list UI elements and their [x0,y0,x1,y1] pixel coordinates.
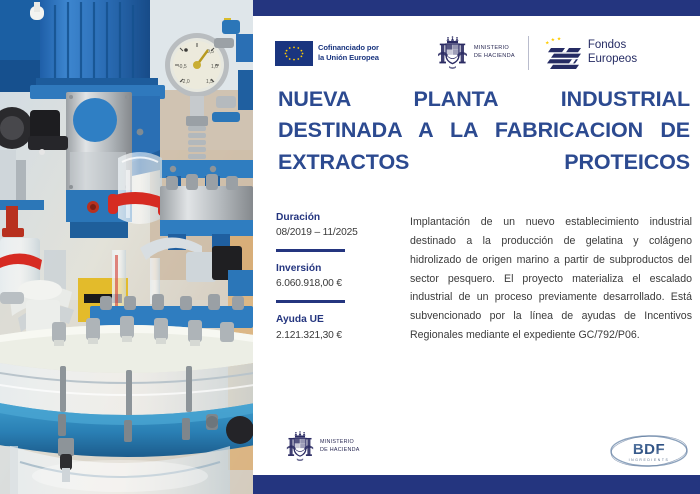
content-panel: Cofinanciado por la Unión Europea [253,0,700,494]
fondos-europeos-mark-icon [542,37,582,70]
footer-ministerio-line2: DE HACIENDA [320,447,360,453]
bottom-navy-bar [253,475,700,494]
spanish-coat-of-arms-icon [436,36,469,70]
svg-text:1,5: 1,5 [206,79,213,85]
fact-value-inversion: 6.060.918,00 € [276,276,404,292]
fact-inversion: Inversión 6.060.918,00 € [276,261,404,292]
ministerio-line1: MINISTERIO [474,45,509,51]
industrial-plant-photo: 0,5 1,0 1,5 -2,0 -0,5 [0,0,253,494]
ministerio-logo-text: MINISTERIO DE HACIENDA [474,45,515,61]
fact-ayuda-ue: Ayuda UE 2.121.321,30 € [276,312,404,343]
fact-label-duracion: Duración [276,210,404,225]
bdf-company-logo: BDF INGREDIENTS [608,430,690,472]
fact-separator-1 [276,249,345,252]
ministerio-hacienda-logo: MINISTERIO DE HACIENDA [436,36,515,70]
fondos-line2: Europeos [588,53,637,65]
eu-logo-line2: la Unión Europea [318,53,379,62]
poster-title: NUEVA PLANTA INDUSTRIAL DESTINADA A LA F… [278,84,690,178]
eu-cofunding-logo: Cofinanciado por la Unión Europea [275,41,379,66]
logo-divider [528,36,529,70]
fact-label-ayuda-ue: Ayuda UE [276,312,404,327]
eu-logo-line1: Cofinanciado por [318,43,379,52]
bdf-wordmark: BDF [633,441,665,458]
fact-separator-2 [276,300,345,303]
ministerio-line2: DE HACIENDA [474,53,515,59]
eu-flag-icon [275,41,313,66]
fondos-europeos-logo: Fondos Europeos [542,37,637,70]
eu-logo-text: Cofinanciado por la Unión Europea [318,43,379,62]
fondos-line1: Fondos [588,39,626,51]
project-information-poster: 0,5 1,0 1,5 -2,0 -0,5 [0,0,700,494]
fact-value-duracion: 08/2019 – 11/2025 [276,225,404,241]
top-navy-bar [253,0,700,16]
svg-text:-2,0: -2,0 [181,79,190,85]
spanish-coat-of-arms-icon-footer [285,431,315,462]
bdf-tagline: INGREDIENTS [629,458,670,462]
svg-text:-0,5: -0,5 [178,64,187,70]
project-facts-list: Duración 08/2019 – 11/2025 Inversión 6.0… [276,210,404,347]
footer-ministerio-logo-text: MINISTERIO DE HACIENDA [320,439,360,454]
fact-duracion: Duración 08/2019 – 11/2025 [276,210,404,241]
photo-illustration: 0,5 1,0 1,5 -2,0 -0,5 [0,0,253,494]
fact-value-ayuda-ue: 2.121.321,30 € [276,328,404,344]
footer-ministerio-hacienda-logo: MINISTERIO DE HACIENDA [285,431,360,462]
project-description: Implantación de un nuevo establecimiento… [410,213,692,345]
fact-label-inversion: Inversión [276,261,404,276]
logo-row: Cofinanciado por la Unión Europea [271,30,690,76]
svg-text:0,5: 0,5 [207,49,214,55]
bdf-logo-icon: BDF INGREDIENTS [608,430,690,472]
svg-text:1,0: 1,0 [211,64,218,70]
fondos-europeos-text: Fondos Europeos [588,39,637,66]
footer-ministerio-line1: MINISTERIO [320,439,354,445]
